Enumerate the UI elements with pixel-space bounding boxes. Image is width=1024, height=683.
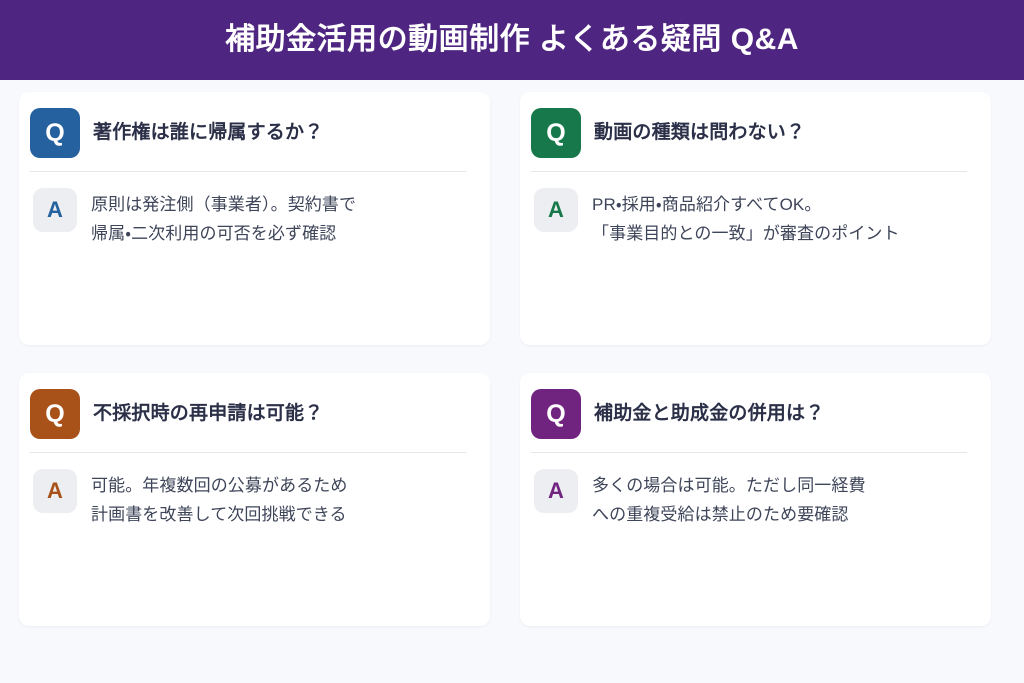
page-title: 補助金活用の動画制作 よくある疑問 Q&A [225, 25, 799, 55]
answer-text: 多くの場合は可能。ただし同一経費 への重複受給は禁止のため要確認 [592, 469, 866, 529]
qa-card: Q 不採択時の再申請は可能？ A 可能。年複数回の公募があるため 計画書を改善し… [19, 373, 490, 626]
qa-card: Q 動画の種類は問わない？ A PR・採用・商品紹介すべてOK。 「事業目的との… [520, 92, 991, 345]
answer-badge-icon: A [33, 188, 77, 232]
qa-card: Q 著作権は誰に帰属するか？ A 原則は発注側（事業者）。契約書で 帰属・二次利… [19, 92, 490, 345]
question-text: 動画の種類は問わない？ [594, 120, 805, 146]
question-badge-icon: Q [30, 108, 80, 158]
question-text: 不採択時の再申請は可能？ [93, 401, 323, 427]
page-header: 補助金活用の動画制作 よくある疑問 Q&A [0, 0, 1024, 80]
answer-badge-icon: A [33, 469, 77, 513]
question-row: Q 補助金と助成金の併用は？ [531, 389, 967, 453]
qa-card-grid: Q 著作権は誰に帰属するか？ A 原則は発注側（事業者）。契約書で 帰属・二次利… [0, 80, 1024, 626]
answer-badge-icon: A [534, 469, 578, 513]
question-text: 補助金と助成金の併用は？ [594, 401, 824, 427]
answer-text: PR・採用・商品紹介すべてOK。 「事業目的との一致」が審査のポイント [592, 188, 900, 248]
question-row: Q 不採択時の再申請は可能？ [30, 389, 466, 453]
answer-row: A 多くの場合は可能。ただし同一経費 への重複受給は禁止のため要確認 [531, 453, 971, 529]
question-text: 著作権は誰に帰属するか？ [93, 120, 323, 146]
question-row: Q 動画の種類は問わない？ [531, 108, 967, 172]
answer-text: 原則は発注側（事業者）。契約書で 帰属・二次利用の可否を必ず確認 [91, 188, 356, 248]
question-badge-icon: Q [30, 389, 80, 439]
answer-row: A 原則は発注側（事業者）。契約書で 帰属・二次利用の可否を必ず確認 [30, 172, 470, 248]
answer-row: A PR・採用・商品紹介すべてOK。 「事業目的との一致」が審査のポイント [531, 172, 971, 248]
answer-row: A 可能。年複数回の公募があるため 計画書を改善して次回挑戦できる [30, 453, 470, 529]
question-badge-icon: Q [531, 108, 581, 158]
question-row: Q 著作権は誰に帰属するか？ [30, 108, 466, 172]
answer-badge-icon: A [534, 188, 578, 232]
question-badge-icon: Q [531, 389, 581, 439]
qa-card: Q 補助金と助成金の併用は？ A 多くの場合は可能。ただし同一経費 への重複受給… [520, 373, 991, 626]
answer-text: 可能。年複数回の公募があるため 計画書を改善して次回挑戦できる [91, 469, 348, 529]
